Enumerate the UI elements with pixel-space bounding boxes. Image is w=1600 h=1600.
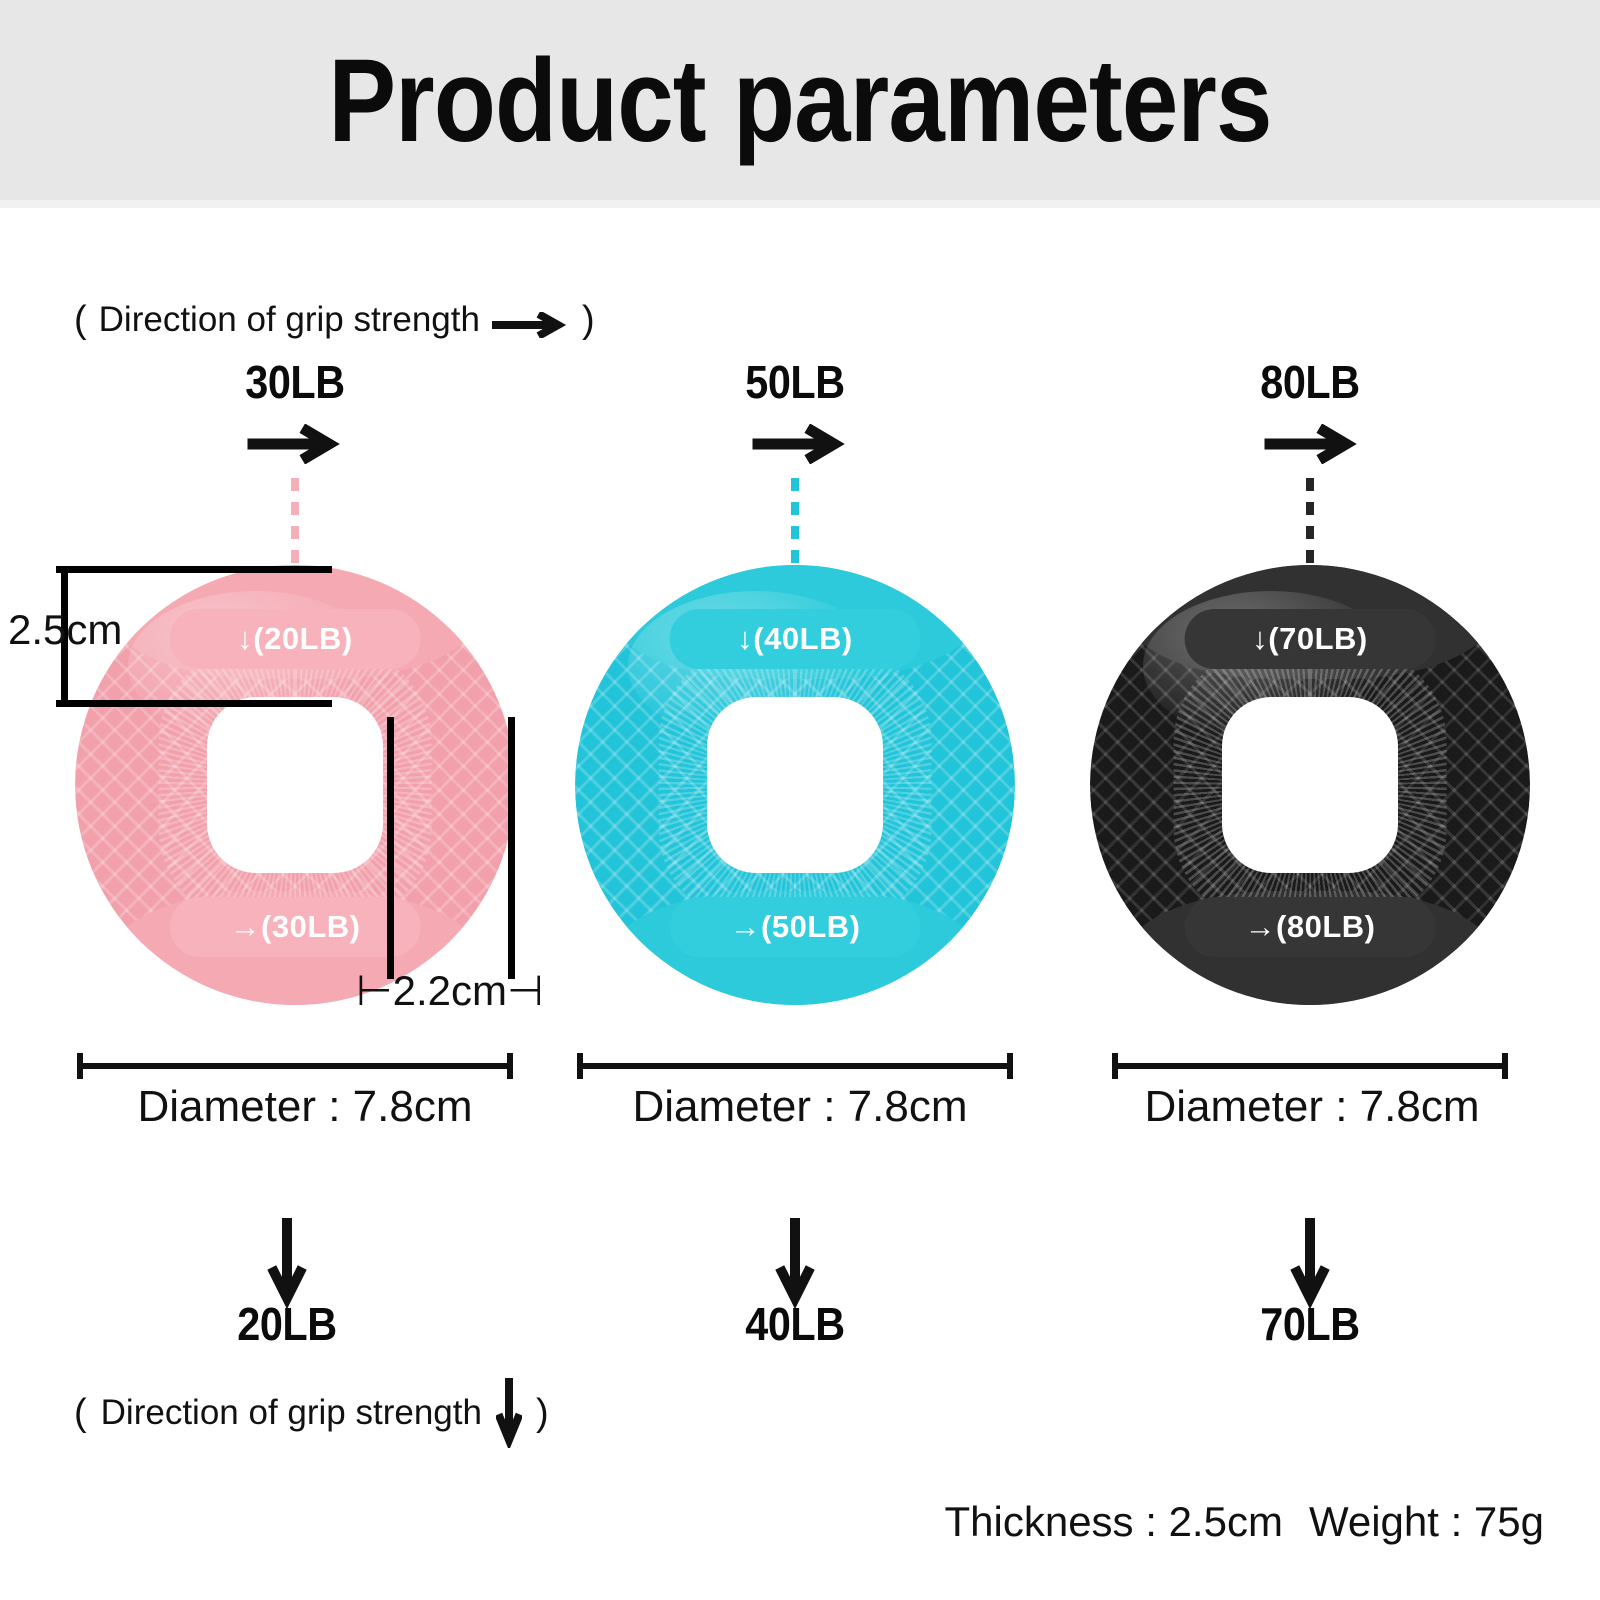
grip-direction-caption-top: ( Direction of grip strength ) <box>74 300 595 340</box>
ring-hole <box>707 697 883 873</box>
width-callout-label: ⊢2.2cm⊣ <box>356 966 544 1015</box>
thickness-spec: Thickness : 2.5cm <box>945 1498 1283 1545</box>
diameter-label: Diameter : 7.8cm <box>633 1082 968 1132</box>
caption-open-paren: ( <box>74 1394 87 1432</box>
footer-specs: Thickness : 2.5cmWeight : 75g <box>945 1498 1545 1546</box>
ring-hole <box>1222 697 1398 873</box>
thickness-callout-label: 2.5cm <box>8 606 122 654</box>
caption-close-paren: ) <box>536 1394 549 1432</box>
header-underline <box>0 200 1600 208</box>
top-weight-label: 80LB <box>1260 355 1359 409</box>
page-title: Product parameters <box>112 36 1488 166</box>
bottom-weight-label: 20LB <box>237 1297 336 1351</box>
arrow-down-icon <box>496 1378 522 1448</box>
dashed-guide-line <box>1306 478 1314 570</box>
infographic-stage: Product parameters ( Direction of grip s… <box>0 0 1600 1600</box>
emboss-label-bottom: →(50LB) <box>670 897 921 957</box>
bottom-weight-label: 40LB <box>745 1297 844 1351</box>
caption-text-bottom: Direction of grip strength <box>101 1393 482 1433</box>
caption-close-paren: ) <box>582 301 595 339</box>
dashed-guide-line <box>291 478 299 570</box>
emboss-label-top: ↓(40LB) <box>670 609 921 669</box>
diameter-dimension-bar <box>575 1053 1015 1079</box>
arrow-right-icon <box>752 424 848 464</box>
emboss-label-top: ↓(70LB) <box>1185 609 1436 669</box>
arrow-right-icon <box>492 307 570 333</box>
ring-hole <box>207 697 383 873</box>
arrow-right-icon <box>1264 424 1360 464</box>
weight-spec: Weight : 75g <box>1309 1498 1544 1545</box>
emboss-label-bottom: →(80LB) <box>1185 897 1436 957</box>
diameter-label: Diameter : 7.8cm <box>1145 1082 1480 1132</box>
caption-open-paren: ( <box>74 301 87 339</box>
grip-ring-pink: ↓(20LB) →(30LB) <box>75 565 515 1005</box>
top-weight-label: 30LB <box>245 355 344 409</box>
diameter-label: Diameter : 7.8cm <box>138 1082 473 1132</box>
grip-ring-black: ↓(70LB) →(80LB) <box>1090 565 1530 1005</box>
diameter-dimension-bar <box>1110 1053 1510 1079</box>
arrow-right-icon <box>247 424 343 464</box>
caption-text-top: Direction of grip strength <box>99 300 480 340</box>
emboss-label-bottom: →(30LB) <box>170 897 421 957</box>
grip-direction-caption-bottom: ( Direction of grip strength ) <box>74 1378 549 1448</box>
top-weight-label: 50LB <box>745 355 844 409</box>
bottom-weight-label: 70LB <box>1260 1297 1359 1351</box>
grip-ring-teal: ↓(40LB) →(50LB) <box>575 565 1015 1005</box>
dashed-guide-line <box>791 478 799 570</box>
diameter-dimension-bar <box>75 1053 515 1079</box>
emboss-label-top: ↓(20LB) <box>170 609 421 669</box>
